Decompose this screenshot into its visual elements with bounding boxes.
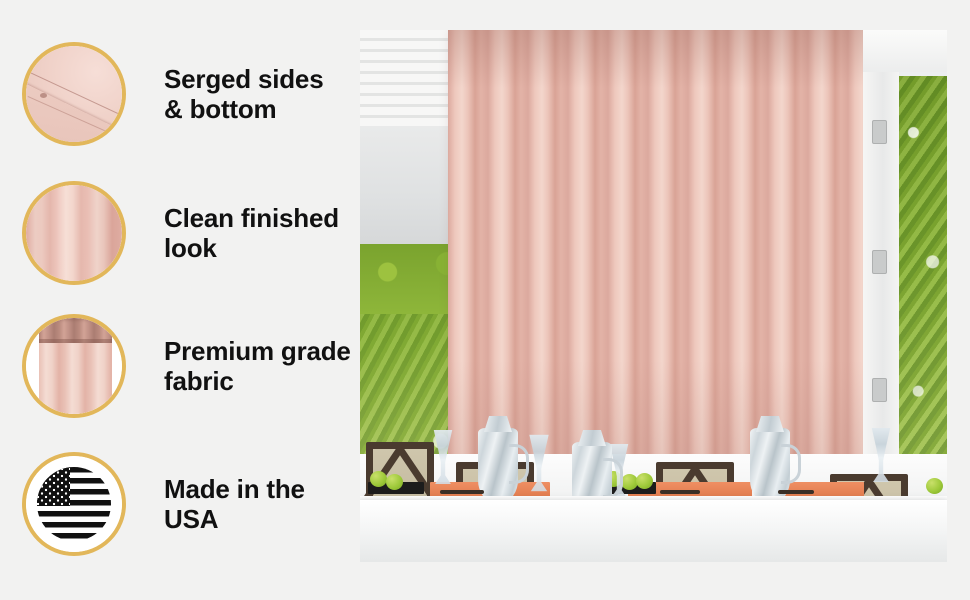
usa-flag-roundel [37,467,111,541]
feature-label-line-2: fabric [164,366,351,396]
feature-item-made-in-the-usa: Made in the USA [22,452,342,556]
feature-label-line-1: Premium grade [164,336,351,366]
feature-label-serged-sides: Serged sides & bottom [164,64,323,124]
feature-item-premium-grade-fabric: Premium grade fabric [22,314,342,418]
green-apple [370,471,387,487]
feature-label-clean-finished-look: Clean finished look [164,203,339,263]
feature-label-premium-grade-fabric: Premium grade fabric [164,336,351,396]
flag-canton [37,467,70,506]
product-feature-infographic: Serged sides & bottom Clean finished loo… [0,0,970,600]
fabric-pleated-swatch-icon [22,181,126,285]
usa-flag-icon [22,452,126,556]
feature-label-line-2: & bottom [164,94,323,124]
green-apple [386,474,403,490]
green-apple [636,473,653,489]
serged-stitch-line [28,96,122,142]
feature-list: Serged sides & bottom Clean finished loo… [0,0,350,600]
door-header-right [863,30,947,72]
utensil [778,490,814,494]
fabric-sheen-overlay [26,185,122,281]
feature-label-line-2: USA [164,504,305,534]
curtain-top-shading [448,30,888,88]
badge-image [26,185,122,281]
door-hinge [872,378,887,402]
curtain-swatch [26,318,122,414]
flag-stars [37,467,70,506]
badge-image [26,46,122,142]
silver-pitcher [478,428,518,502]
pink-curtain-backdrop-banquet-photo [360,30,947,562]
curtain-gathered-header [39,318,112,343]
feature-label-made-in-the-usa: Made in the USA [164,474,305,534]
fabric-serged-edge-icon [22,42,126,146]
utensil [660,490,700,494]
feature-item-clean-finished-look: Clean finished look [22,181,342,285]
badge-image [26,318,122,414]
badge-image [26,456,122,552]
feature-item-serged-sides: Serged sides & bottom [22,42,342,146]
curtain-panel-icon [22,314,126,418]
banquet-table-front [360,500,947,562]
feature-label-line-1: Serged sides [164,64,323,94]
green-apple [926,478,943,494]
door-hinge [872,120,887,144]
door-hinge [872,250,887,274]
serged-fabric-swatch [26,46,122,142]
utensil [440,490,484,494]
feature-label-line-1: Clean finished [164,203,339,233]
feature-label-line-1: Made in the [164,474,305,504]
foliage-right [899,76,947,480]
feature-label-line-2: look [164,233,339,263]
serged-corner-knot [40,93,47,98]
